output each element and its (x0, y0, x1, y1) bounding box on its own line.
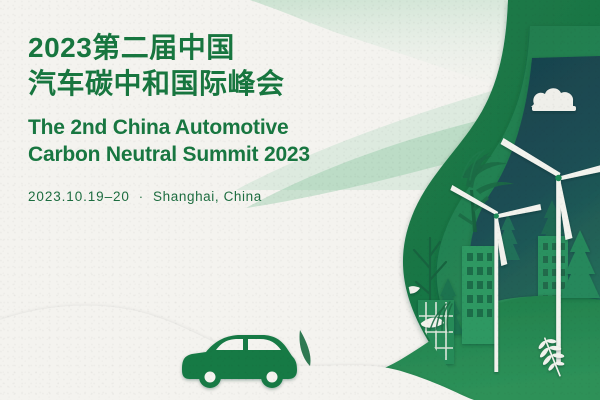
event-location: Shanghai, China (153, 189, 262, 204)
event-meta: 2023.10.19–20 · Shanghai, China (28, 189, 428, 204)
event-date: 2023.10.19–20 (28, 189, 130, 204)
building-icon (462, 246, 496, 344)
english-title-line-2: Carbon Neutral Summit 2023 (28, 141, 428, 169)
chinese-title-line-1: 2023第二届中国 (28, 30, 428, 66)
english-title: The 2nd China Automotive Carbon Neutral … (28, 114, 428, 169)
english-title-line-1: The 2nd China Automotive (28, 114, 428, 142)
chinese-title-line-2: 汽车碳中和国际峰会 (28, 66, 428, 102)
title-block: 2023第二届中国 汽车碳中和国际峰会 The 2nd China Automo… (28, 30, 428, 204)
meta-separator-dot: · (139, 189, 144, 204)
conference-poster: 2023第二届中国 汽车碳中和国际峰会 The 2nd China Automo… (0, 0, 600, 400)
chinese-title: 2023第二届中国 汽车碳中和国际峰会 (28, 30, 428, 102)
